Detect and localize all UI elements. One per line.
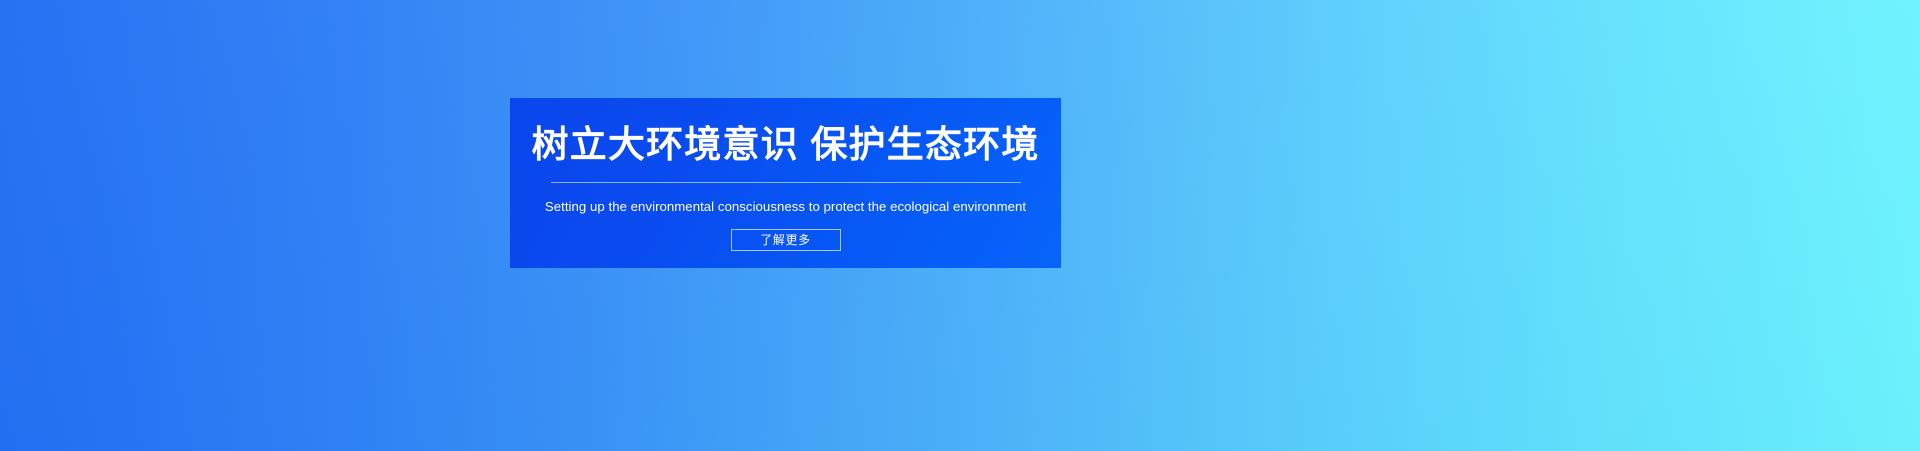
hero-content-panel: 树立大环境意识 保护生态环境 Setting up the environmen… [510, 98, 1061, 268]
page-title: 树立大环境意识 保护生态环境 [531, 125, 1039, 165]
title-divider [551, 182, 1021, 183]
hero-subtitle: Setting up the environmental consciousne… [545, 199, 1026, 215]
hero-banner: 树立大环境意识 保护生态环境 Setting up the environmen… [0, 0, 1920, 451]
learn-more-button[interactable]: 了解更多 [731, 229, 841, 251]
